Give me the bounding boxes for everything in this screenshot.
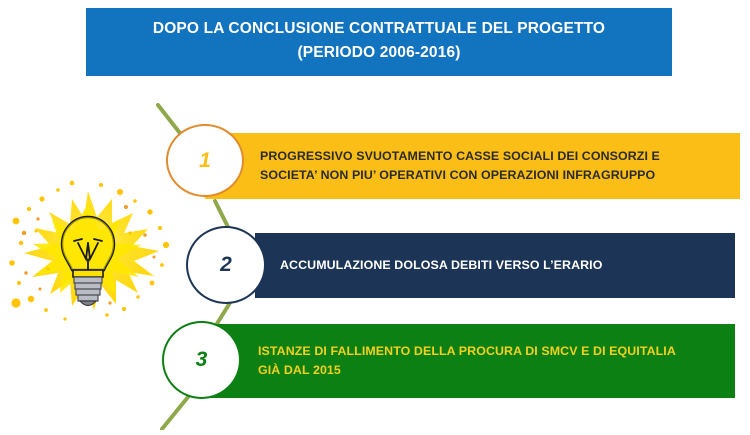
- step-number-2: 2: [220, 253, 232, 277]
- header-title-line2: (PERIODO 2006-2016): [297, 41, 460, 65]
- lightbulb-splash-illustration: [2, 173, 174, 348]
- step-number-circle-2: 2: [186, 226, 266, 304]
- step-number-1: 1: [199, 149, 211, 173]
- step-bar-1: PROGRESSIVO SVUOTAMENTO CASSE SOCIALI DE…: [205, 133, 740, 199]
- step-number-circle-1: 1: [166, 124, 244, 197]
- step-number-circle-3: 3: [162, 321, 241, 399]
- header-banner: DOPO LA CONCLUSIONE CONTRATTUALE DEL PRO…: [86, 8, 672, 76]
- step-text-3: ISTANZE DI FALLIMENTO DELLA PROCURA DI S…: [200, 342, 735, 380]
- bulb-screw-base: [73, 270, 103, 306]
- step-text-3-line1: ISTANZE DI FALLIMENTO DELLA PROCURA DI S…: [258, 342, 723, 361]
- step-bar-2: ACCUMULAZIONE DOLOSA DEBITI VERSO L’ERAR…: [255, 233, 735, 298]
- step-text-1: PROGRESSIVO SVUOTAMENTO CASSE SOCIALI DE…: [205, 147, 740, 185]
- step-bar-3: ISTANZE DI FALLIMENTO DELLA PROCURA DI S…: [200, 324, 735, 398]
- step-text-3-line2: GIÀ DAL 2015: [258, 361, 723, 380]
- step-text-2-line1: ACCUMULAZIONE DOLOSA DEBITI VERSO L’ERAR…: [280, 256, 723, 275]
- slide-canvas: DOPO LA CONCLUSIONE CONTRATTUALE DEL PRO…: [0, 0, 750, 430]
- step-number-3: 3: [196, 348, 208, 372]
- step-text-1-line2: SOCIETA’ NON PIU’ OPERATIVI CON OPERAZIO…: [260, 166, 728, 185]
- step-text-2: ACCUMULAZIONE DOLOSA DEBITI VERSO L’ERAR…: [255, 256, 735, 275]
- step-text-1-line1: PROGRESSIVO SVUOTAMENTO CASSE SOCIALI DE…: [260, 147, 728, 166]
- header-title-line1: DOPO LA CONCLUSIONE CONTRATTUALE DEL PRO…: [153, 17, 605, 41]
